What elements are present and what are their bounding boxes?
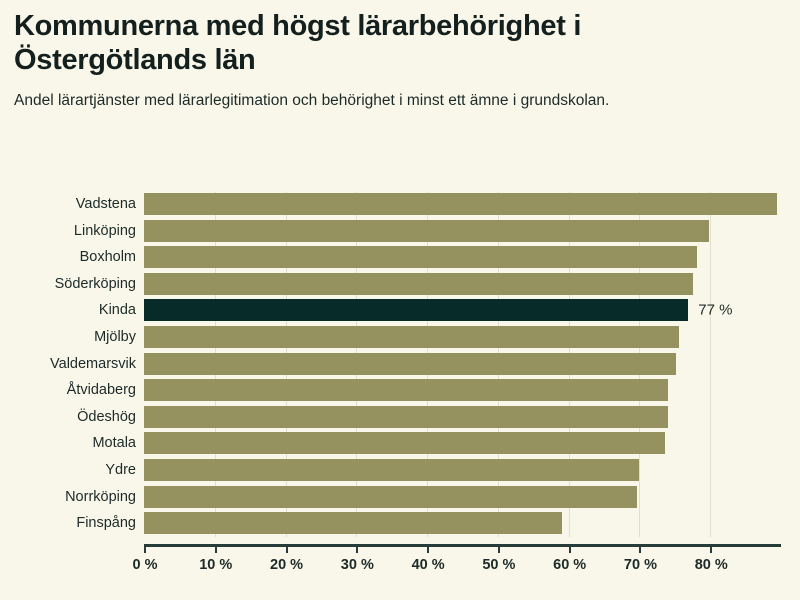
- y-axis-label: Vadstena: [76, 196, 136, 212]
- plot-area: 77 %: [144, 192, 781, 537]
- y-axis-label: Boxholm: [80, 249, 136, 265]
- tick-label: 50 %: [482, 557, 515, 573]
- tick-mark: [356, 544, 358, 553]
- bar[interactable]: [144, 193, 777, 215]
- bar[interactable]: [144, 379, 668, 401]
- y-axis-label-row: Boxholm: [0, 246, 136, 268]
- bar[interactable]: [144, 326, 679, 348]
- bar[interactable]: [144, 353, 676, 375]
- bar[interactable]: [144, 432, 665, 454]
- bar[interactable]: [144, 220, 709, 242]
- y-axis-label-row: Linköping: [0, 220, 136, 242]
- bar-row: [144, 379, 781, 401]
- bar-row: [144, 353, 781, 375]
- y-axis-label-row: Finspång: [0, 512, 136, 534]
- bar-row: [144, 220, 781, 242]
- y-axis-label: Motala: [92, 435, 136, 451]
- y-axis-label: Ydre: [105, 462, 136, 478]
- bar[interactable]: [144, 246, 697, 268]
- y-axis-label-row: Mjölby: [0, 326, 136, 348]
- bar-row: [144, 193, 781, 215]
- y-axis-label-row: Vadstena: [0, 193, 136, 215]
- page-title: Kommunerna med högst lärarbehörighet i Ö…: [14, 10, 754, 77]
- tick-label: 30 %: [341, 557, 374, 573]
- bar-rows: 77 %: [144, 192, 781, 537]
- tick-mark: [710, 544, 712, 553]
- y-axis-label-row: Motala: [0, 432, 136, 454]
- tick-mark: [215, 544, 217, 553]
- tick-mark: [286, 544, 288, 553]
- tick-label: 10 %: [199, 557, 232, 573]
- y-axis-label: Ödeshög: [77, 409, 136, 425]
- y-axis-label: Norrköping: [65, 489, 136, 505]
- y-axis-label: Mjölby: [94, 329, 136, 345]
- tick-label: 40 %: [412, 557, 445, 573]
- y-axis-label: Söderköping: [55, 276, 136, 292]
- tick-mark: [144, 544, 146, 553]
- bar[interactable]: [144, 486, 637, 508]
- bar[interactable]: [144, 406, 668, 428]
- bar[interactable]: [144, 299, 688, 321]
- y-axis-label: Finspång: [76, 515, 136, 531]
- bar-value-label: 77 %: [698, 302, 732, 319]
- tick-mark: [639, 544, 641, 553]
- y-axis-label-row: Söderköping: [0, 273, 136, 295]
- bar-row: [144, 326, 781, 348]
- tick-label: 20 %: [270, 557, 303, 573]
- y-axis-label-row: Ydre: [0, 459, 136, 481]
- chart-subtitle: Andel lärartjänster med lärarlegitimatio…: [14, 91, 786, 112]
- tick-mark: [498, 544, 500, 553]
- y-axis-label: Åtvidaberg: [67, 382, 136, 398]
- bar-row: [144, 273, 781, 295]
- tick-mark: [569, 544, 571, 553]
- chart-plot: VadstenaLinköpingBoxholmSöderköpingKinda…: [0, 185, 800, 585]
- bar-row: [144, 406, 781, 428]
- chart-header: Kommunerna med högst lärarbehörighet i Ö…: [0, 0, 800, 112]
- bar-row: 77 %: [144, 299, 781, 321]
- tick-label: 60 %: [553, 557, 586, 573]
- bar-row: [144, 246, 781, 268]
- tick-label: 70 %: [624, 557, 657, 573]
- y-axis-label: Valdemarsvik: [50, 356, 136, 372]
- y-axis-label-row: Kinda: [0, 299, 136, 321]
- y-axis-label-row: Norrköping: [0, 486, 136, 508]
- tick-mark: [427, 544, 429, 553]
- tick-label: 0 %: [133, 557, 158, 573]
- bar[interactable]: [144, 273, 693, 295]
- y-axis-labels: VadstenaLinköpingBoxholmSöderköpingKinda…: [0, 192, 136, 537]
- chart-page: Kommunerna med högst lärarbehörighet i Ö…: [0, 0, 800, 600]
- y-axis-label-row: Ödeshög: [0, 406, 136, 428]
- bar-row: [144, 486, 781, 508]
- bar[interactable]: [144, 512, 562, 534]
- y-axis-label-row: Åtvidaberg: [0, 379, 136, 401]
- tick-label: 80 %: [695, 557, 728, 573]
- bar-row: [144, 512, 781, 534]
- bar-row: [144, 432, 781, 454]
- y-axis-label-row: Valdemarsvik: [0, 353, 136, 375]
- bar-row: [144, 459, 781, 481]
- x-axis-ticks: 0 %10 %20 %30 %40 %50 %60 %70 %80 %: [144, 544, 781, 584]
- y-axis-label: Linköping: [74, 223, 136, 239]
- bar[interactable]: [144, 459, 639, 481]
- y-axis-label: Kinda: [99, 302, 136, 318]
